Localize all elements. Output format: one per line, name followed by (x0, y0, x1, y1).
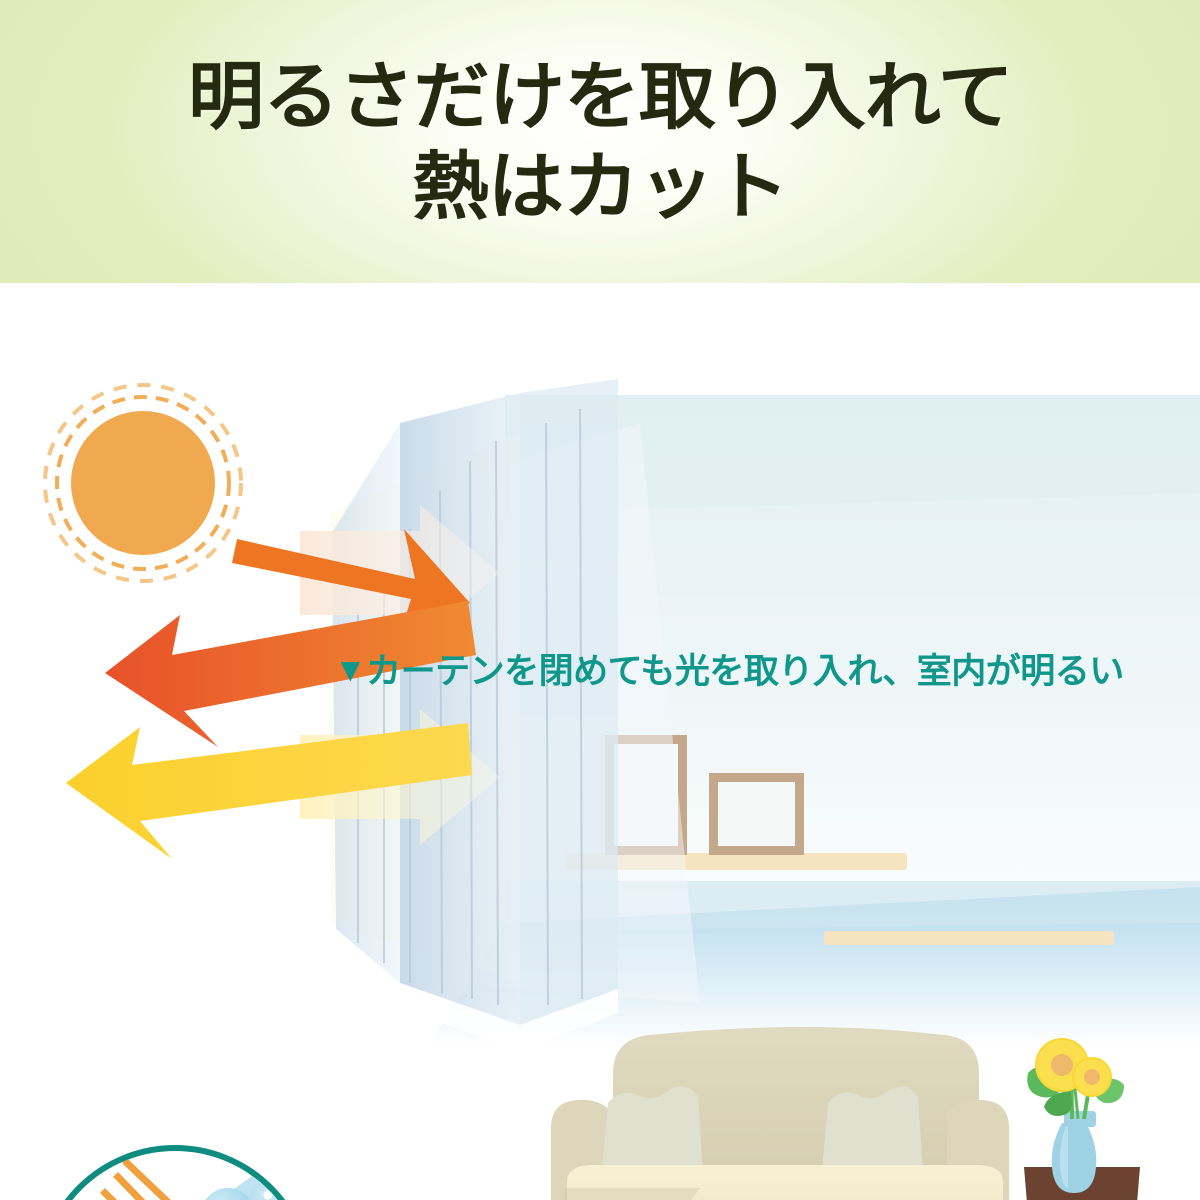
scene-svg (0, 283, 1200, 1200)
triangle-down-icon: ▼ (334, 651, 366, 689)
header-title-block: 明るさだけを取り入れて 熱はカット (0, 0, 1200, 283)
curtain-panel (332, 379, 618, 1051)
sofa-shadow (560, 1188, 700, 1200)
sunflower-small (1072, 1057, 1112, 1097)
wall-shelf-lower (824, 931, 1114, 945)
flower-vase (1052, 1111, 1097, 1193)
sun-disc (71, 411, 215, 555)
caption-top: ▼カーテンを閉めても光を取り入れ、室内が明るい (334, 643, 1124, 694)
picture-frame-small (709, 773, 804, 855)
page-title-line-2: 熱はカット (412, 149, 788, 224)
fiber-zoom-bubble (40, 1148, 372, 1200)
sofa (551, 1027, 1009, 1200)
header-banner: 明るさだけを取り入れて 熱はカット (0, 0, 1200, 283)
page-title-line-1: 明るさだけを取り入れて (188, 59, 1013, 134)
illustration-scene: ▼カーテンを閉めても光を取り入れ、室内が明るい ◀繊維に含まれる特殊な金属酸化物… (0, 283, 1200, 1200)
sun-graphic (45, 385, 241, 581)
infographic-page: 明るさだけを取り入れて 熱はカット (0, 0, 1200, 1200)
caption-top-text: カーテンを閉めても光を取り入れ、室内が明るい (366, 652, 1124, 691)
